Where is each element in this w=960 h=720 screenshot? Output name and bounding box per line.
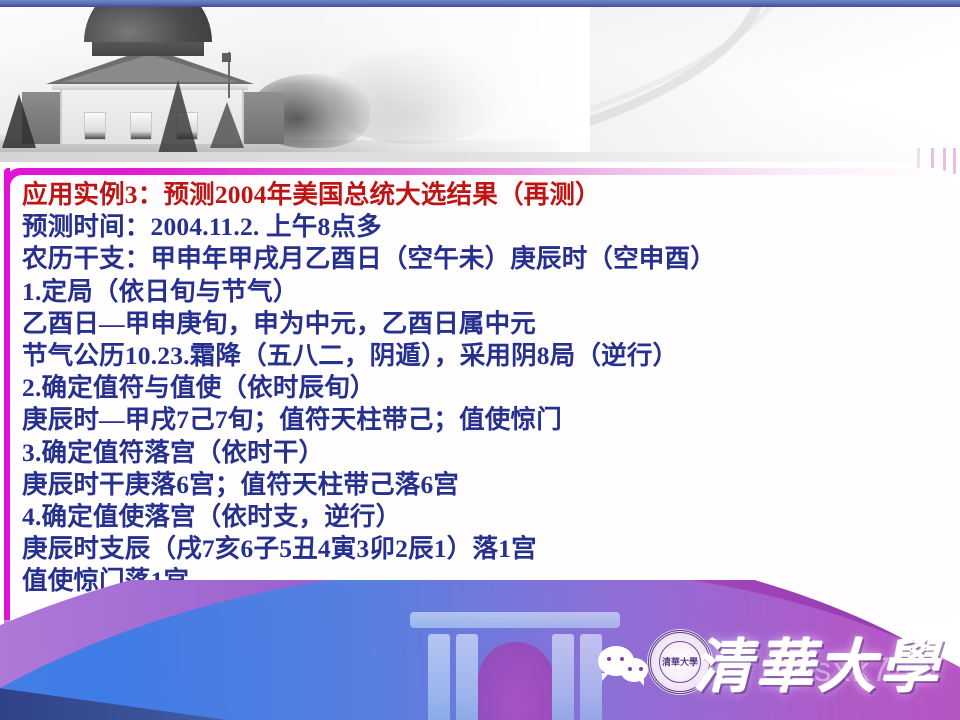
slide-body-line-9: 庚辰时干庚落6宫；值符天柱带己落6宫: [22, 469, 952, 501]
wechat-bubble-small: [620, 658, 648, 682]
slide-body-line-5: 节气公历10.23.霜降（五八二，阴遁），采用阴8局（逆行）: [22, 340, 952, 372]
slide-title: 应用实例3：预测2004年美国总统大选结果（再测）: [22, 179, 952, 211]
slide-body-line-10: 4.确定值使落宫（依时支，逆行）: [22, 501, 952, 533]
presentation-slide: 应用实例3：预测2004年美国总统大选结果（再测） 预测时间：2004.11.2…: [0, 0, 960, 720]
slide-body-line-2: 农历干支：甲申年甲戌月乙酉日（空午未）庚辰时（空申酉）: [22, 243, 952, 275]
dome: [84, 7, 212, 42]
slide-body-line-8: 3.确定值符落宫（依时干）: [22, 437, 952, 469]
slide-body-line-3: 1.定局（依日旬与节气）: [22, 276, 952, 308]
top-blue-rule: [0, 0, 960, 7]
slide-body-line-6: 2.确定值符与值使（依时辰旬）: [22, 372, 952, 404]
tsinghua-gate-illustration: [400, 608, 630, 720]
content-frame: 应用实例3：预测2004年美国总统大选结果（再测） 预测时间：2004.11.2…: [4, 168, 952, 620]
tree: [210, 102, 244, 148]
tree: [2, 94, 36, 148]
slide-body-line-11: 庚辰时支辰（戌7亥6子5丑4寅3卯2辰1）落1宫: [22, 533, 952, 565]
wechat-dot: [620, 657, 624, 661]
wechat-dot: [639, 667, 643, 671]
slide-body-line-7: 庚辰时—甲戌7己7旬；值符天柱带己；值使惊门: [22, 404, 952, 436]
tree: [158, 80, 198, 154]
header-photo-band: [0, 7, 960, 162]
slide-body-line-4: 乙酉日—甲申庚旬，申为中元，乙酉日属中元: [22, 308, 952, 340]
wechat-icon[interactable]: [598, 646, 650, 686]
gate-column: [552, 634, 574, 720]
content-area: 应用实例3：预测2004年美国总统大选结果（再测） 预测时间：2004.11.2…: [10, 175, 952, 620]
building-window: [130, 112, 152, 140]
gate-column: [428, 634, 450, 720]
footer-decoration: 清華大學 sxk734 清華大學: [0, 580, 960, 720]
gate-arch: [478, 642, 554, 720]
brand-calligraphy: 清華大學: [694, 620, 942, 704]
wechat-dot: [628, 667, 632, 671]
slide-body-line-1: 预测时间：2004.11.2. 上午8点多: [22, 211, 952, 243]
building-pediment-inner: [62, 54, 238, 82]
building-window: [84, 112, 106, 140]
header-baseline: [0, 152, 960, 162]
slide-text-block: 应用实例3：预测2004年美国总统大选结果（再测） 预测时间：2004.11.2…: [22, 179, 952, 598]
flag-icon: [222, 53, 231, 62]
gate-roof: [410, 612, 620, 628]
gate-column: [456, 634, 478, 720]
header-photo-fade: [290, 7, 590, 162]
wechat-dot: [607, 657, 611, 661]
